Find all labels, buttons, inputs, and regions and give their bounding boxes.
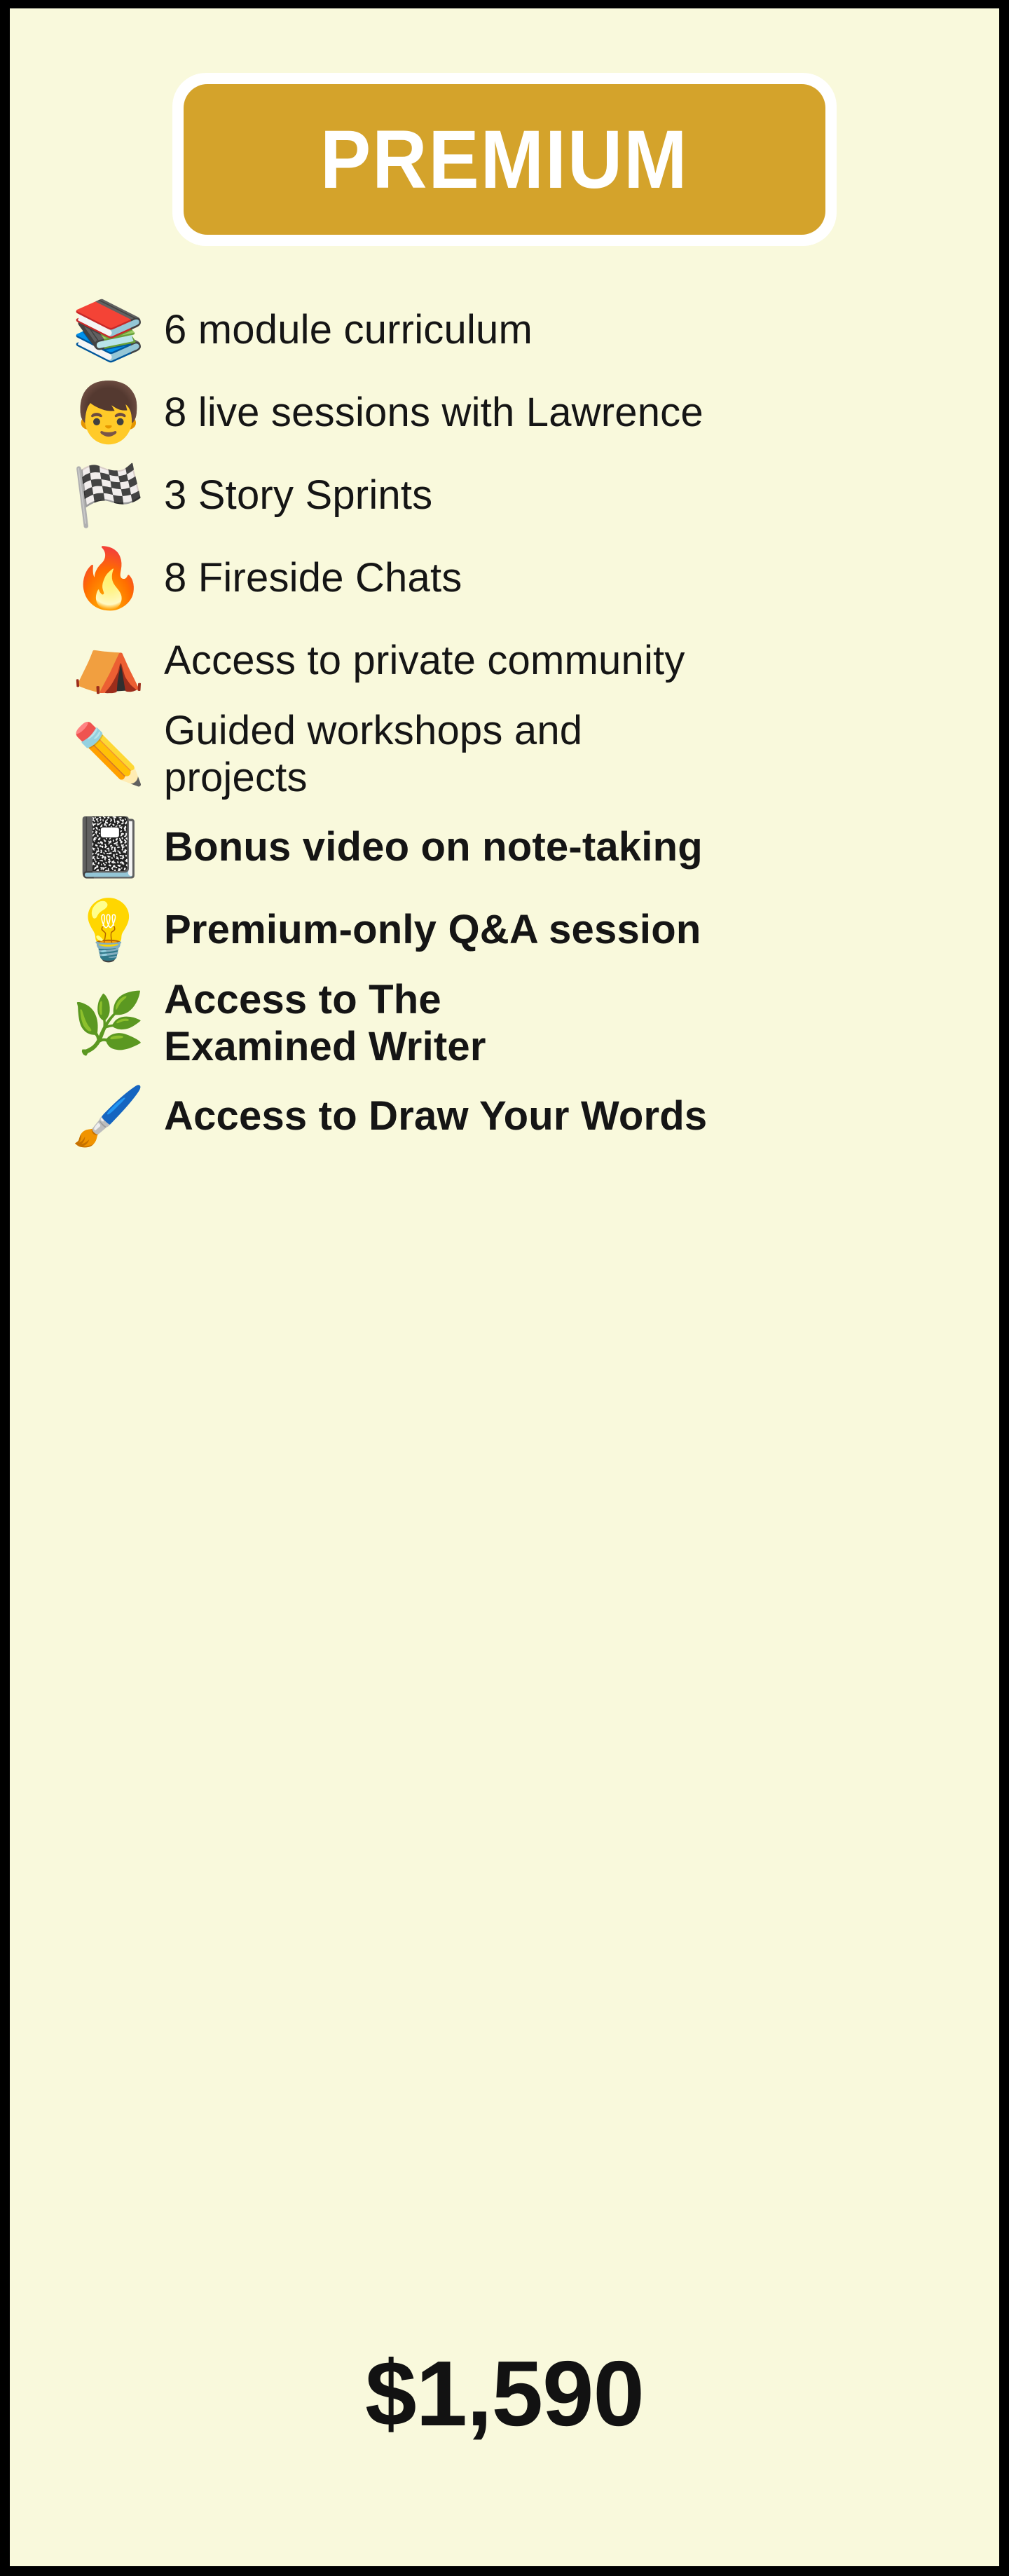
price-container: $1,590 (10, 2348, 999, 2440)
price-amount: $1,590 (365, 2342, 644, 2445)
notebook-icon: 📓 (53, 818, 164, 877)
list-item: 🖌️ Access to Draw Your Words (10, 1075, 999, 1158)
plan-badge-container: PREMIUM (10, 73, 999, 246)
list-item: 👦 8 live sessions with Lawrence (10, 371, 999, 454)
feature-label: 8 live sessions with Lawrence (164, 389, 703, 436)
feature-label: 6 module curriculum (164, 306, 533, 353)
feature-label: 3 Story Sprints (164, 472, 432, 519)
list-item: 🔥 8 Fireside Chats (10, 537, 999, 619)
list-item: ✏️ Guided workshops and projects (10, 702, 999, 806)
list-item: 🏁 3 Story Sprints (10, 454, 999, 537)
books-icon: 📚 (53, 301, 164, 359)
person-face-icon: 👦 (53, 383, 164, 442)
list-item: 💡 Premium-only Q&A session (10, 889, 999, 971)
paintbrush-icon: 🖌️ (53, 1087, 164, 1146)
feature-label: 8 Fireside Chats (164, 554, 462, 601)
laurel-wreath-icon: 🌿 (53, 994, 164, 1053)
list-item: 📚 6 module curriculum (10, 289, 999, 371)
plan-badge: PREMIUM (184, 84, 825, 235)
feature-list: 📚 6 module curriculum 👦 8 live sessions … (10, 289, 999, 1158)
list-item: ⛺ Access to private community (10, 619, 999, 702)
feature-label: Access to private community (164, 637, 685, 684)
pricing-card-surface: PREMIUM 📚 6 module curriculum 👦 8 live s… (10, 8, 999, 2566)
feature-label: Access to Draw Your Words (164, 1092, 707, 1139)
feature-label: Bonus video on note-taking (164, 823, 703, 870)
light-bulb-icon: 💡 (53, 900, 164, 959)
plan-badge-label: PREMIUM (320, 118, 689, 201)
feature-label: Premium-only Q&A session (164, 906, 701, 953)
chequered-flag-icon: 🏁 (53, 466, 164, 525)
feature-label: Access to The Examined Writer (164, 976, 612, 1071)
fire-icon: 🔥 (53, 549, 164, 608)
pencil-icon: ✏️ (53, 725, 164, 783)
list-item: 🌿 Access to The Examined Writer (10, 971, 999, 1075)
pricing-card-frame: PREMIUM 📚 6 module curriculum 👦 8 live s… (0, 0, 1009, 2576)
tent-icon: ⛺ (53, 631, 164, 690)
plan-badge-outline: PREMIUM (172, 73, 837, 246)
feature-label: Guided workshops and projects (164, 707, 612, 802)
list-item: 📓 Bonus video on note-taking (10, 806, 999, 889)
